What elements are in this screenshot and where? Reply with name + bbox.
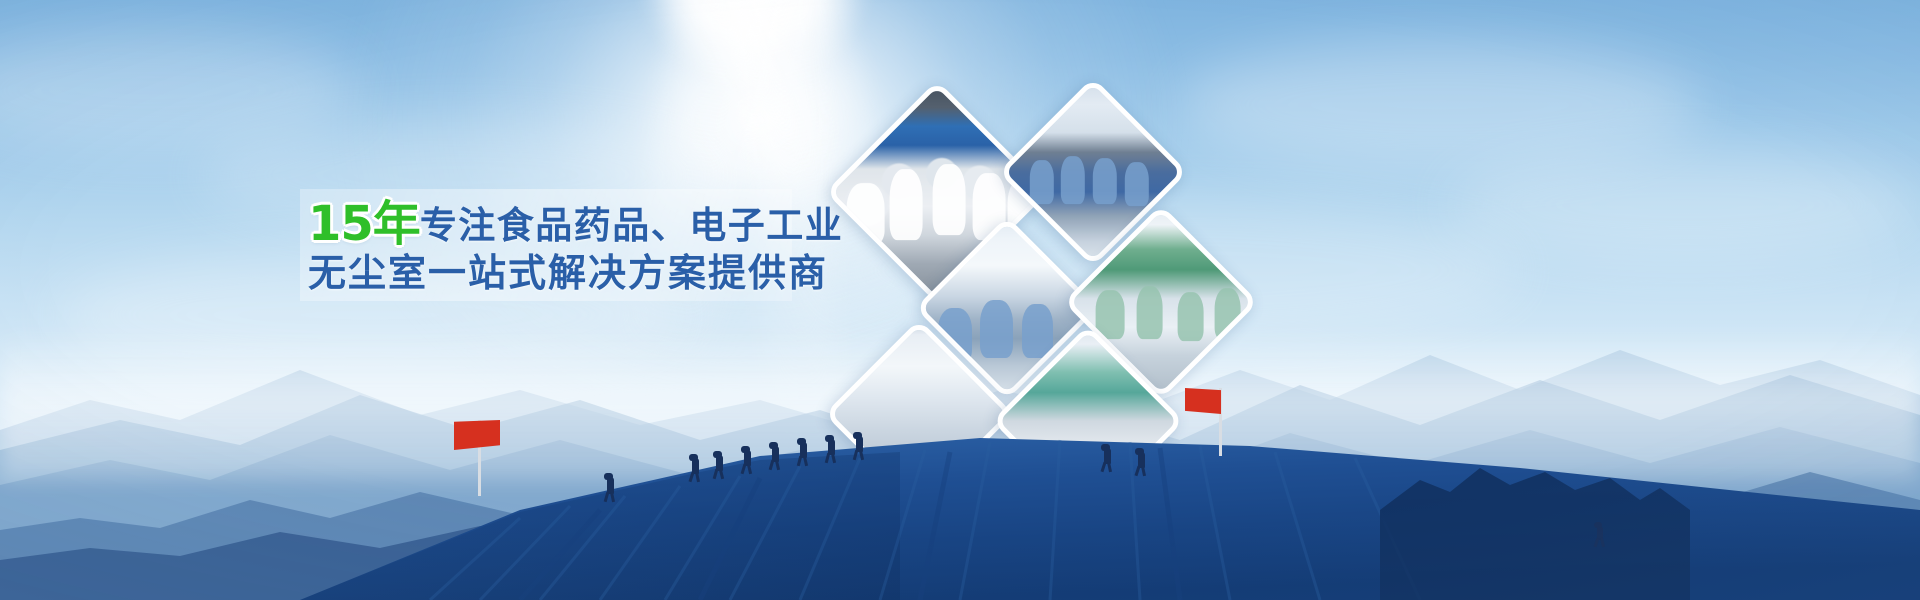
headline-line-1-rest: 专注食品药品、电子工业 — [420, 207, 844, 244]
headline-line-2: 无尘室一站式解决方案提供商 — [308, 254, 808, 306]
foreground-ridge — [0, 360, 1920, 600]
cloud — [1450, 150, 1920, 260]
rock-outcrop — [0, 360, 1920, 600]
headline-block: 15年 专注食品药品、电子工业 无尘室一站式解决方案提供商 — [308, 198, 808, 306]
headline-line-2-text: 无尘室一站式解决方案提供商 — [308, 254, 828, 292]
hero-banner: 15年 专注食品药品、电子工业 无尘室一站式解决方案提供商 — [0, 0, 1920, 600]
years-highlight: 15年 — [308, 200, 420, 248]
headline-line-1: 15年 专注食品药品、电子工业 — [308, 198, 808, 250]
